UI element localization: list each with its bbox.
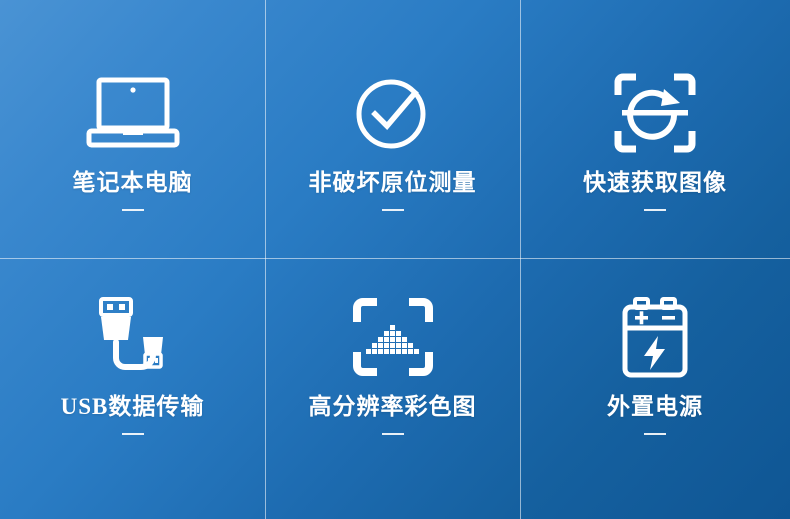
feature-highlights-panel: 笔记本电脑 非破坏原位测量 [0, 0, 790, 519]
feature-label: USB数据传输 [61, 394, 205, 419]
feature-label: 非破坏原位测量 [309, 170, 477, 195]
feature-grid: 笔记本电脑 非破坏原位测量 [0, 0, 790, 519]
label-underline-dash [644, 209, 666, 211]
feature-cell-fast-capture[interactable]: 快速获取图像 [520, 0, 790, 258]
label-underline-dash [382, 433, 404, 435]
label-underline-dash [122, 209, 144, 211]
feature-cell-usb[interactable]: USB数据传输 [0, 258, 265, 519]
feature-label: 外置电源 [607, 394, 703, 419]
laptop-icon [85, 72, 181, 154]
feature-label: 高分辨率彩色图 [309, 394, 477, 419]
feature-label: 笔记本电脑 [73, 170, 193, 195]
usb-cable-icon [85, 296, 181, 378]
check-circle-icon [353, 72, 433, 154]
feature-cell-nondestructive[interactable]: 非破坏原位测量 [265, 0, 520, 258]
battery-bolt-icon [620, 296, 690, 378]
feature-cell-power[interactable]: 外置电源 [520, 258, 790, 519]
label-underline-dash [122, 433, 144, 435]
feature-label: 快速获取图像 [583, 170, 727, 195]
label-underline-dash [382, 209, 404, 211]
label-underline-dash [644, 433, 666, 435]
feature-cell-resolution[interactable]: 高分辨率彩色图 [265, 258, 520, 519]
pixel-scan-icon [353, 296, 433, 378]
scan-refresh-icon [614, 72, 696, 154]
feature-cell-laptop[interactable]: 笔记本电脑 [0, 0, 265, 258]
